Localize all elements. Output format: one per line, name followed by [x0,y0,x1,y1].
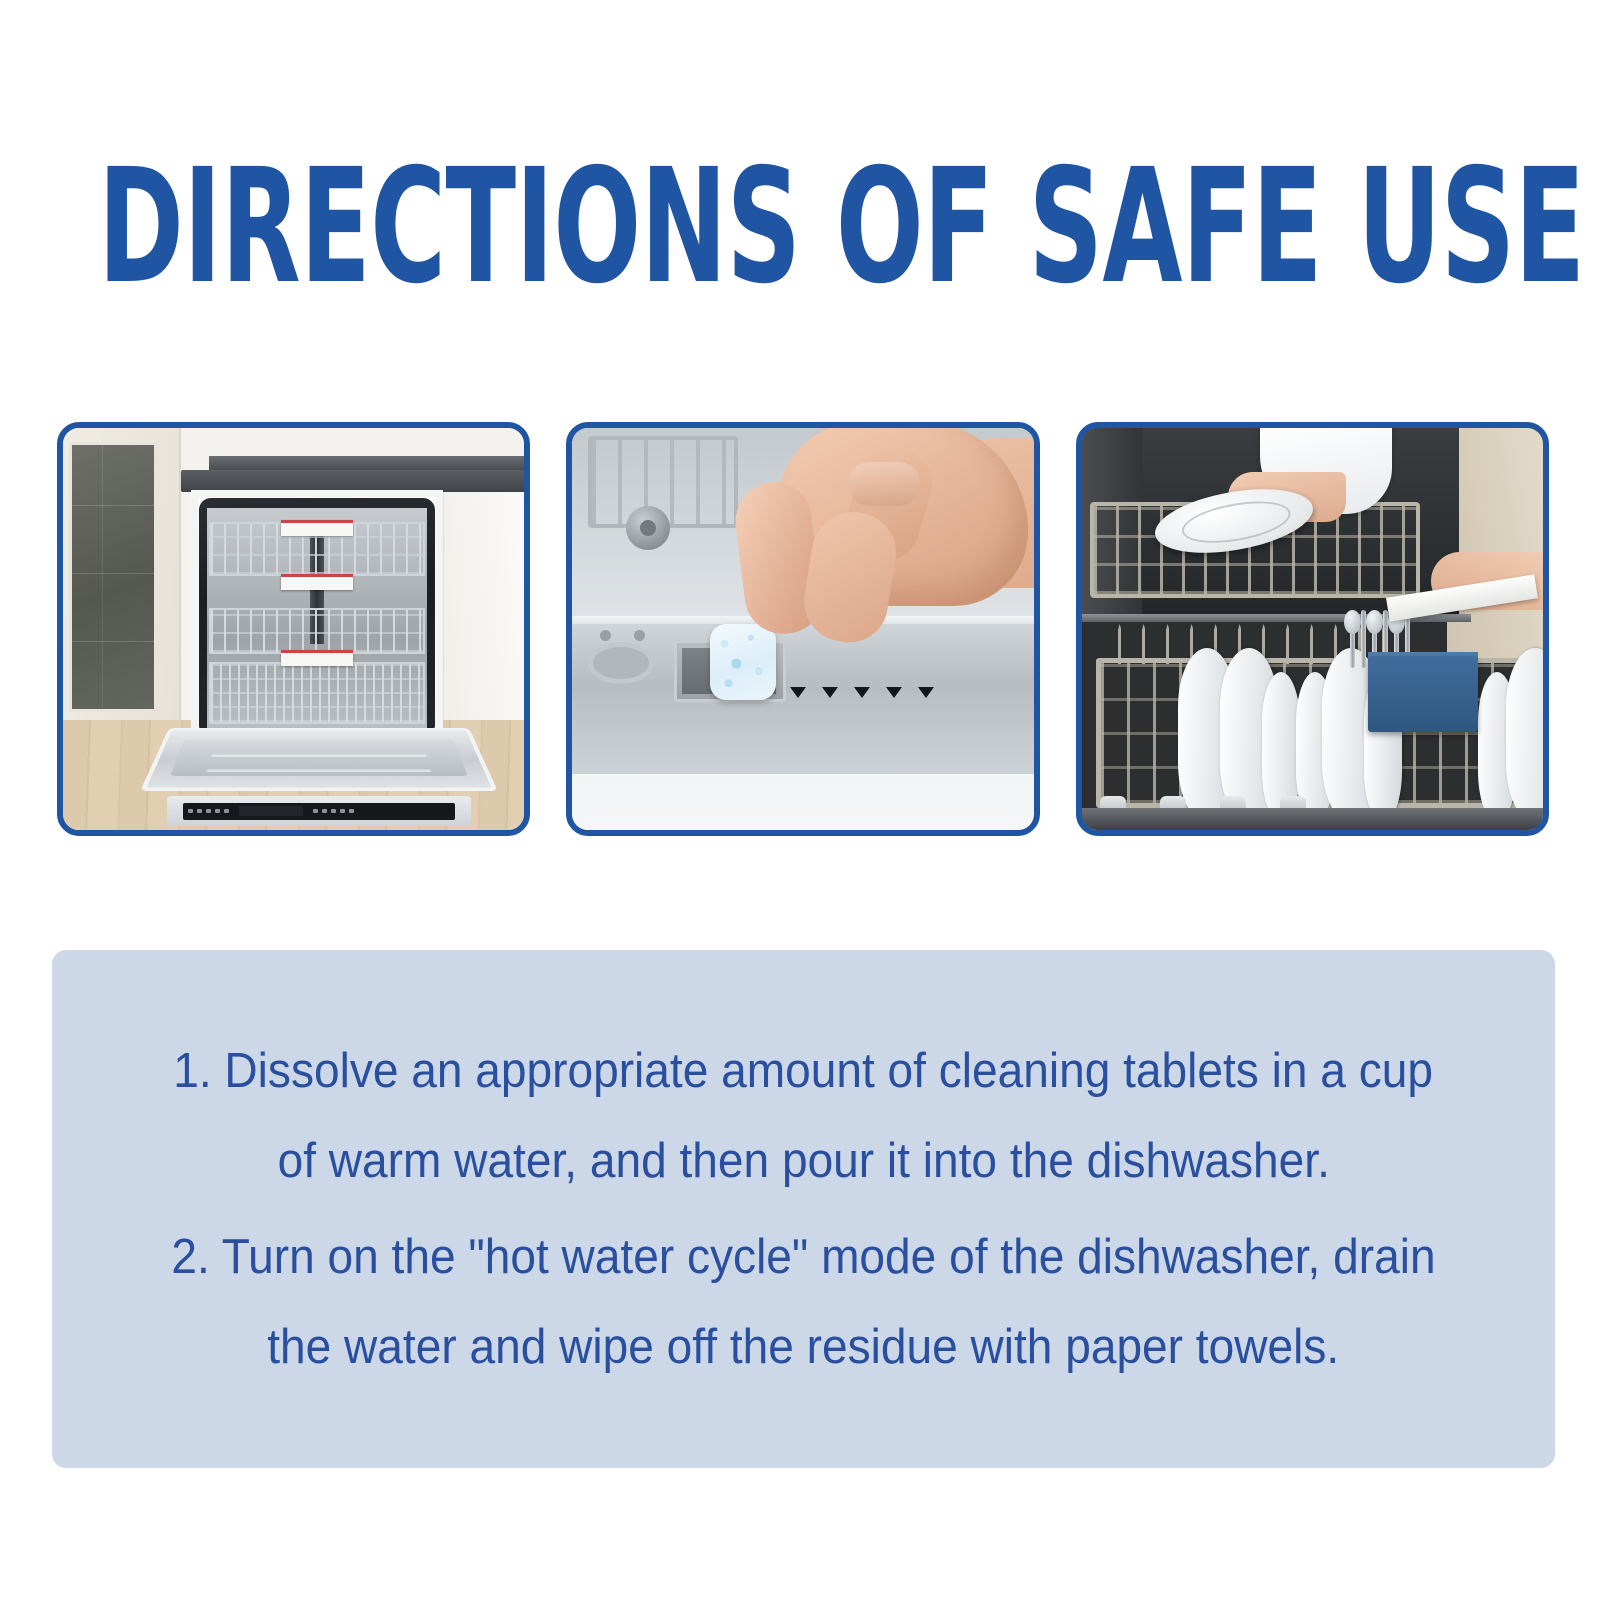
rack-label-1 [281,520,353,536]
control-button-5 [224,809,229,813]
vent-5 [918,687,934,698]
control-button-2 [197,809,202,813]
instruction-line-2: of warm water, and then pour it into the… [277,1116,1329,1206]
vent-4 [886,687,902,698]
fork-1 [1361,610,1366,668]
glass-mullion-vertical [102,445,103,709]
lower-rack [209,662,425,724]
glass-mullion-3 [72,641,154,642]
rinse-aid-cap [588,642,654,684]
door-crease-2 [207,770,431,772]
instructions-panel: 1. Dissolve an appropriate amount of cle… [52,950,1555,1468]
countertop [181,470,524,492]
control-strip [183,803,455,820]
photo-strip [57,422,1549,836]
glass-mullion-2 [72,573,154,574]
vent-1 [790,687,806,698]
product-instruction-graphic: DIRECTIONS OF SAFE USE [0,0,1600,1600]
control-button-8 [331,809,336,813]
dishwasher-tub [199,498,435,730]
dishwasher-kitchen-scene [63,428,524,830]
photo-open-empty-dishwasher [57,422,530,836]
vent-2 [822,687,838,698]
spoon-1 [1350,610,1355,668]
door-inner-panel [170,739,468,776]
instruction-line-3: 2. Turn on the "hot water cycle" mode of… [171,1212,1435,1302]
page-title: DIRECTIONS OF SAFE USE [98,155,1018,300]
vent-3 [854,687,870,698]
control-button-6 [313,809,318,813]
middle-rack [209,608,425,654]
dispenser-closeup-scene [572,428,1033,830]
plate-8 [1506,648,1543,822]
instruction-line-1: 1. Dissolve an appropriate amount of cle… [174,1026,1434,1116]
door-bottom-edge [1082,808,1543,830]
glass-cabinet-door [69,442,157,712]
rack-label-3 [281,650,353,666]
photo-loading-clean-dishes [1076,422,1549,836]
knuckle-highlight [848,462,920,506]
control-display [239,806,303,816]
door-crease-1 [212,755,427,757]
loaded-dishwasher-scene [1082,428,1543,830]
photo-hand-inserting-tablet [566,422,1039,836]
dishwasher-door-open [140,728,498,791]
countertop-back-edge [209,456,524,470]
control-button-10 [349,809,354,813]
control-button-9 [340,809,345,813]
control-button-1 [188,809,193,813]
control-button-3 [206,809,211,813]
instruction-line-4: the water and wipe off the residue with … [268,1302,1340,1392]
control-button-4 [215,809,220,813]
dishwasher-control-panel [167,796,471,826]
rack-label-2 [281,574,353,590]
control-button-7 [322,809,327,813]
cutlery-basket [1368,656,1478,732]
glass-mullion-1 [72,505,154,506]
left-cabinet [63,428,181,728]
hand [698,428,1033,686]
